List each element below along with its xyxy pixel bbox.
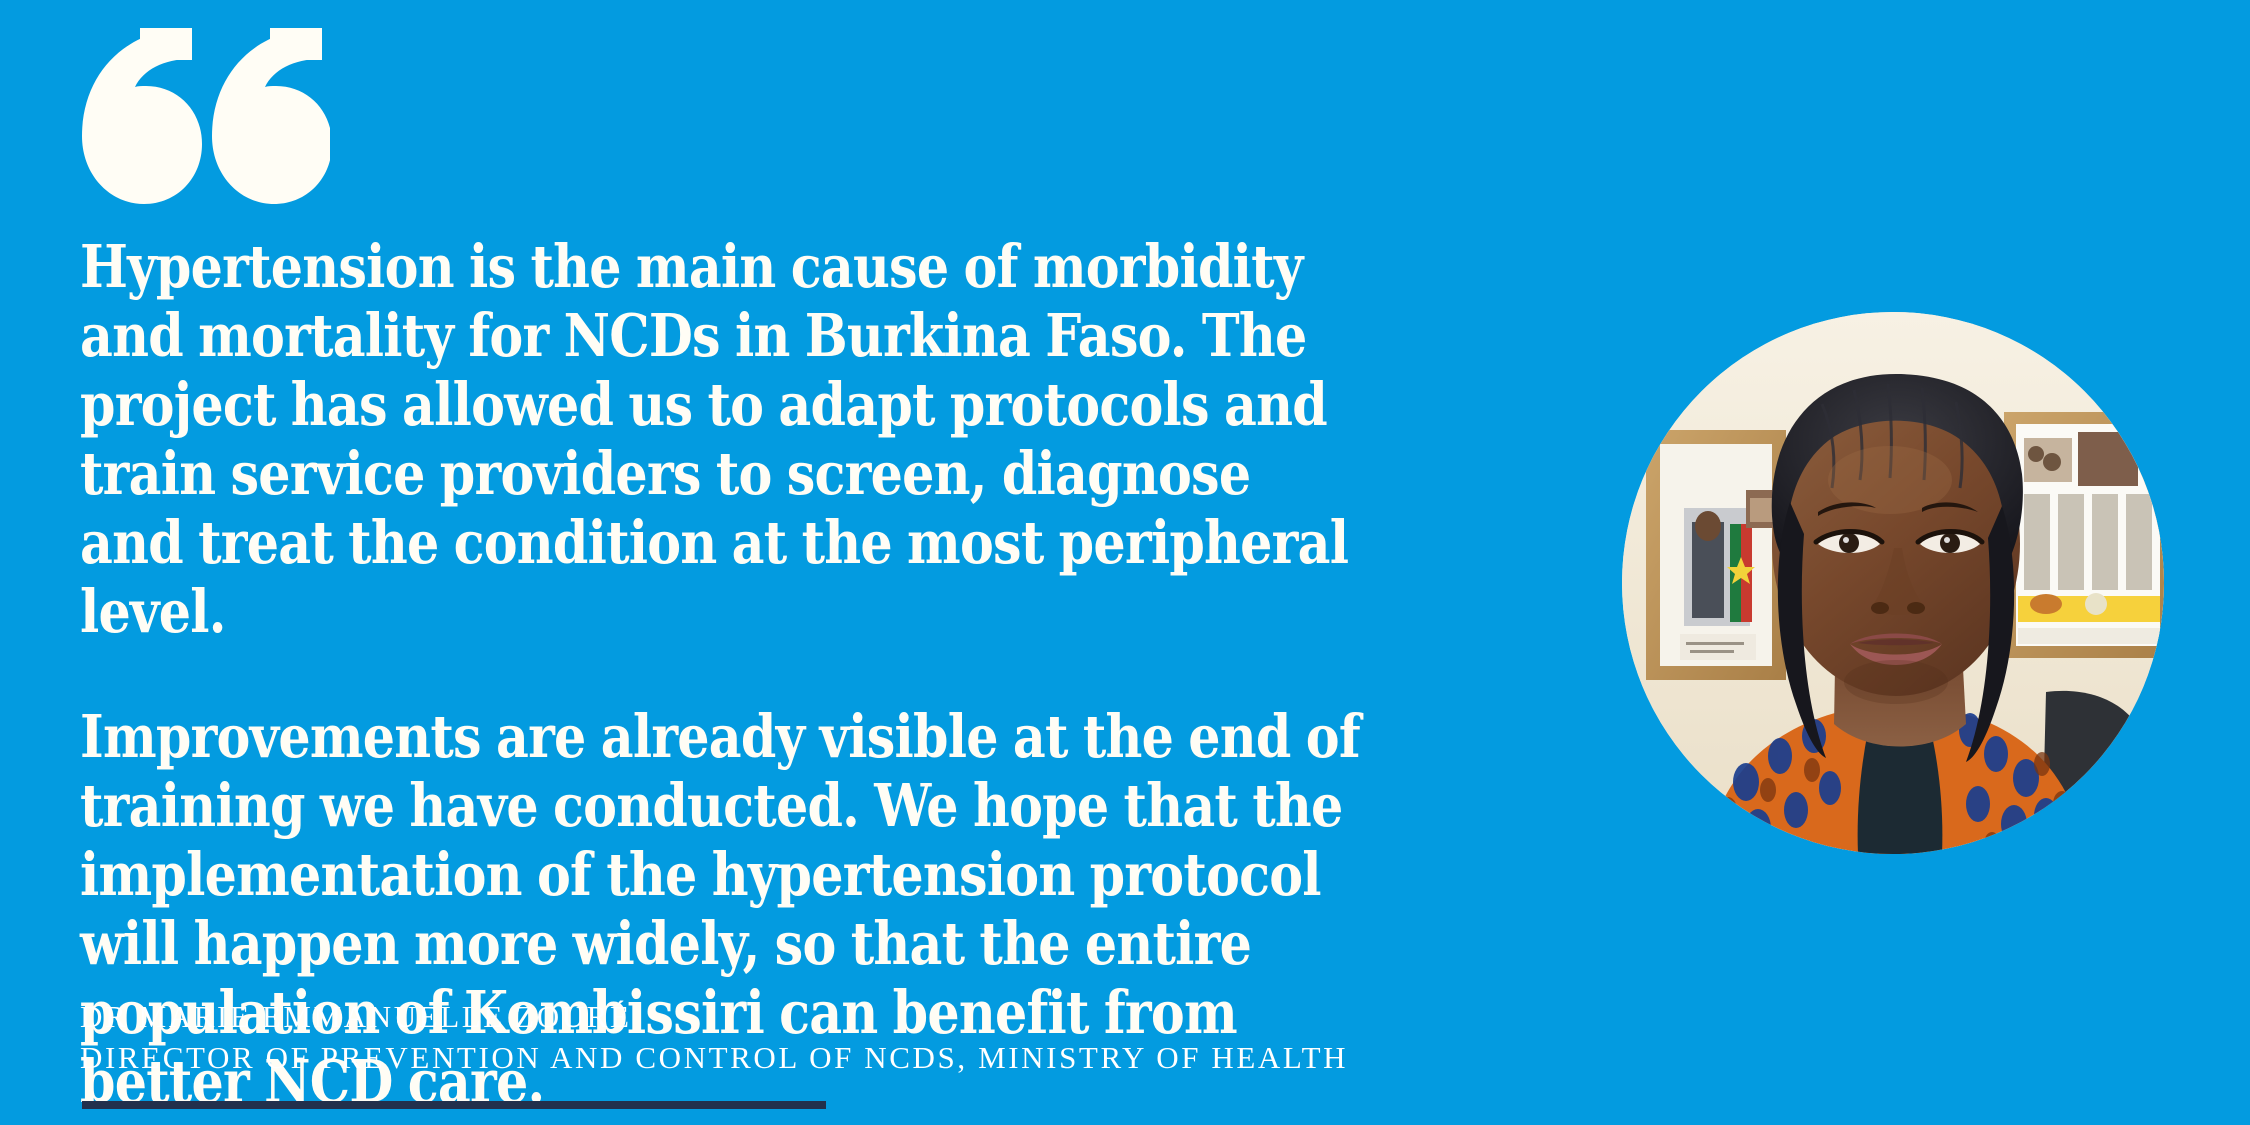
attribution-rule [82,1101,826,1109]
quote-card: Hypertension is the main cause of morbid… [0,0,2250,1125]
quote-text: Hypertension is the main cause of morbid… [80,232,1570,1116]
attribution-name: DR MARIE EMMANUELLE ZOURÉ [80,996,1580,1037]
attribution-title: DIRECTOR OF PREVENTION AND CONTROL OF NC… [80,1037,1580,1078]
portrait-photo [1622,312,2164,854]
attribution: DR MARIE EMMANUELLE ZOURÉ DIRECTOR OF PR… [80,996,1580,1078]
quotation-mark-icon [80,26,330,206]
quote-paragraph-1: Hypertension is the main cause of morbid… [80,232,1361,646]
